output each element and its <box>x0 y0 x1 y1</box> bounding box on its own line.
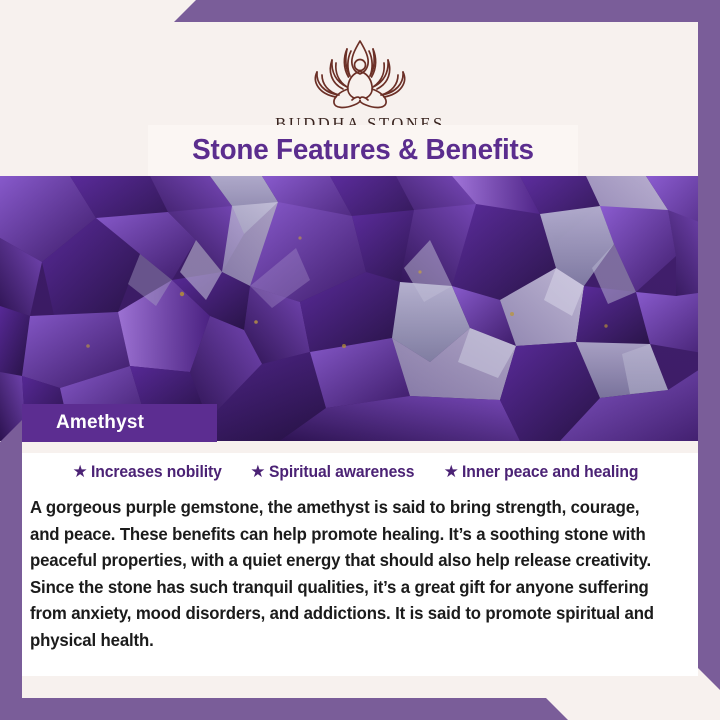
decorative-left-band <box>0 420 22 720</box>
stone-description: A gorgeous purple gemstone, the amethyst… <box>30 494 667 653</box>
decorative-bottom-band <box>0 698 720 720</box>
stone-name-label: Amethyst <box>22 404 217 442</box>
page-title: Stone Features & Benefits <box>192 134 534 167</box>
benefit-label: Inner peace and healing <box>462 463 638 482</box>
title-banner: Stone Features & Benefits <box>148 125 578 176</box>
decorative-right-band <box>698 0 720 690</box>
content-panel: ★ Increases nobility ★ Spiritual awarene… <box>22 441 698 676</box>
brand-logo: BUDDHA STONES <box>22 22 698 134</box>
benefit-item: ★ Inner peace and healing <box>444 463 648 482</box>
lotus-meditation-logo-icon <box>295 34 425 112</box>
benefit-label: Increases nobility <box>91 463 222 482</box>
benefit-item: ★ Spiritual awareness <box>250 463 421 482</box>
hero-image <box>0 176 720 441</box>
star-icon: ★ <box>72 463 87 480</box>
star-icon: ★ <box>250 463 265 480</box>
benefit-label: Spiritual awareness <box>269 463 414 482</box>
star-icon: ★ <box>444 463 459 480</box>
benefit-item: ★ Increases nobility <box>72 463 228 482</box>
benefits-list: ★ Increases nobility ★ Spiritual awarene… <box>22 463 698 482</box>
stone-feature-card: BUDDHA STONES Stone Features & Benefits <box>0 0 720 720</box>
decorative-top-band <box>0 0 720 22</box>
stone-name-text: Amethyst <box>22 412 144 434</box>
content-top-strip <box>22 441 698 453</box>
amethyst-crystal-cluster-photo <box>0 176 720 441</box>
